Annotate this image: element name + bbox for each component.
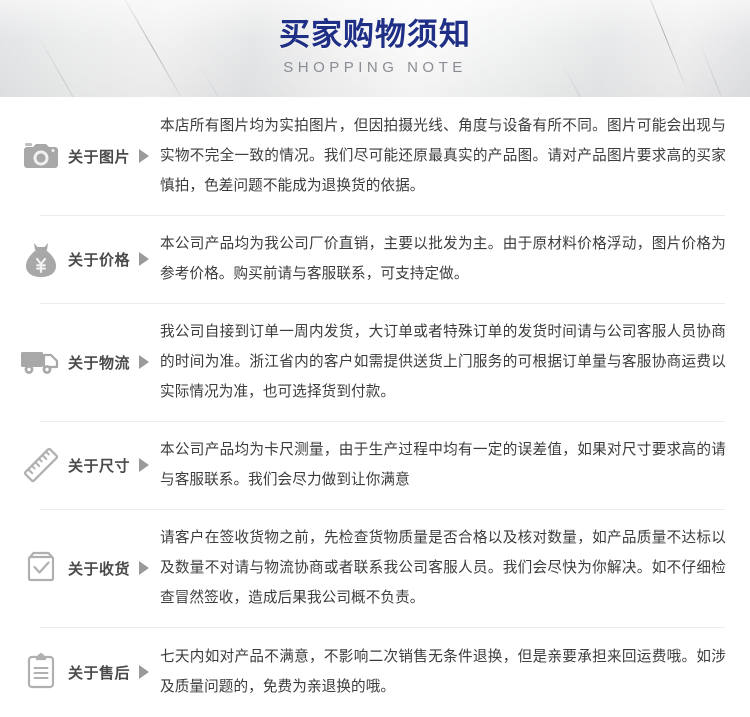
note-row-label: 关于物流 [68, 352, 130, 373]
note-row-heading: 关于价格 [0, 236, 160, 282]
camera-icon [18, 133, 64, 179]
truck-icon [18, 339, 64, 385]
box-check-icon [18, 545, 64, 591]
triangle-right-icon [139, 252, 149, 266]
page-header-banner: 买家购物须知 SHOPPING NOTE [0, 0, 750, 97]
triangle-right-icon [139, 561, 149, 575]
money-bag-icon [18, 236, 64, 282]
note-row-text: 请客户在签收货物之前，先检查货物质量是否合格以及核对数量，如产品质量不达标以及数… [160, 509, 726, 627]
ruler-icon [18, 442, 64, 488]
clipboard-icon [18, 649, 64, 695]
banner-text-group: 买家购物须知 SHOPPING NOTE [0, 0, 750, 76]
page-subtitle: SHOPPING NOTE [0, 59, 750, 76]
note-row-heading: 关于物流 [0, 339, 160, 385]
note-row: 关于尺寸 本公司产品均为卡尺测量，由于生产过程中均有一定的误差值，如果对尺寸要求… [0, 421, 750, 509]
triangle-right-icon [139, 149, 149, 163]
note-row-heading: 关于尺寸 [0, 442, 160, 488]
note-row-text: 七天内如对产品不满意，不影响二次销售无条件退换，但是亲要承担来回运费哦。如涉及质… [160, 628, 726, 716]
note-row-label: 关于价格 [68, 249, 130, 270]
note-row-text: 我公司自接到订单一周内发货，大订单或者特殊订单的发货时间请与公司客服人员协商的时… [160, 303, 726, 421]
note-row-text: 本公司产品均为我公司厂价直销，主要以批发为主。由于原材料价格浮动，图片价格为参考… [160, 215, 726, 303]
note-row: 关于收货 请客户在签收货物之前，先检查货物质量是否合格以及核对数量，如产品质量不… [0, 509, 750, 627]
triangle-right-icon [139, 665, 149, 679]
note-row: 关于售后 七天内如对产品不满意，不影响二次销售无条件退换，但是亲要承担来回运费哦… [0, 627, 750, 717]
note-row-text: 本公司产品均为卡尺测量，由于生产过程中均有一定的误差值，如果对尺寸要求高的请与客… [160, 421, 726, 509]
note-row-heading: 关于售后 [0, 649, 160, 695]
note-row-label: 关于尺寸 [68, 455, 130, 476]
triangle-right-icon [139, 458, 149, 472]
note-row-label: 关于图片 [68, 146, 130, 167]
note-row-text: 本店所有图片均为实拍图片，但因拍摄光线、角度与设备有所不同。图片可能会出现与实物… [160, 97, 726, 215]
triangle-right-icon [139, 355, 149, 369]
note-row: 关于价格 本公司产品均为我公司厂价直销，主要以批发为主。由于原材料价格浮动，图片… [0, 215, 750, 303]
note-row-label: 关于收货 [68, 558, 130, 579]
note-row: 关于物流 我公司自接到订单一周内发货，大订单或者特殊订单的发货时间请与公司客服人… [0, 303, 750, 421]
note-row: 关于图片 本店所有图片均为实拍图片，但因拍摄光线、角度与设备有所不同。图片可能会… [0, 97, 750, 215]
note-row-label: 关于售后 [68, 662, 130, 683]
note-row-heading: 关于收货 [0, 545, 160, 591]
page-title: 买家购物须知 [0, 17, 750, 53]
note-row-heading: 关于图片 [0, 133, 160, 179]
notes-list: 关于图片 本店所有图片均为实拍图片，但因拍摄光线、角度与设备有所不同。图片可能会… [0, 97, 750, 717]
